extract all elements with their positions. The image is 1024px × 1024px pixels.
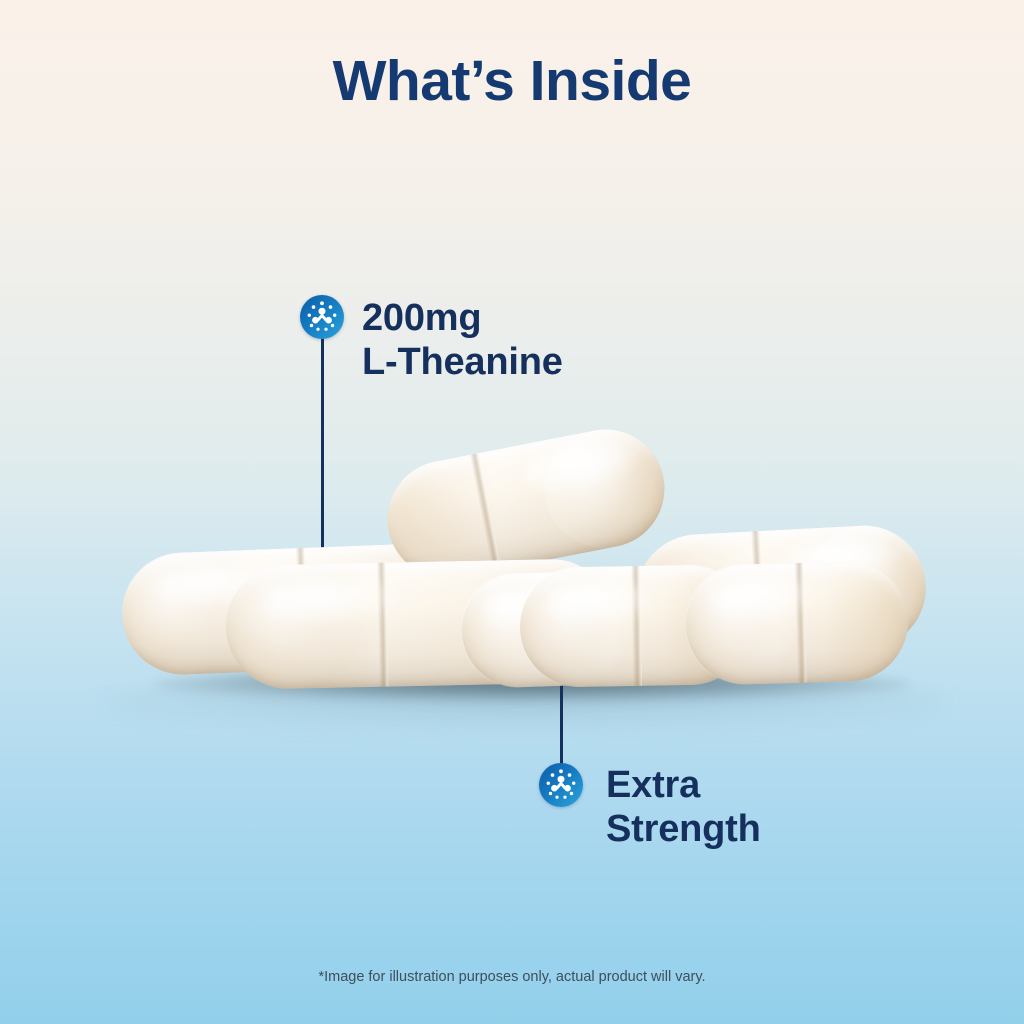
callout-label-l-theanine: 200mg L-Theanine bbox=[362, 296, 563, 384]
molecule-icon bbox=[539, 763, 583, 807]
disclaimer-text: *Image for illustration purposes only, a… bbox=[0, 969, 1024, 985]
molecule-icon bbox=[300, 295, 344, 339]
callout-label-extra-strength: Extra Strength bbox=[606, 763, 761, 851]
capsule-front-right bbox=[684, 560, 909, 686]
product-infographic: What’s Inside bbox=[0, 0, 1024, 1024]
capsule-pile-image bbox=[0, 0, 1024, 1024]
